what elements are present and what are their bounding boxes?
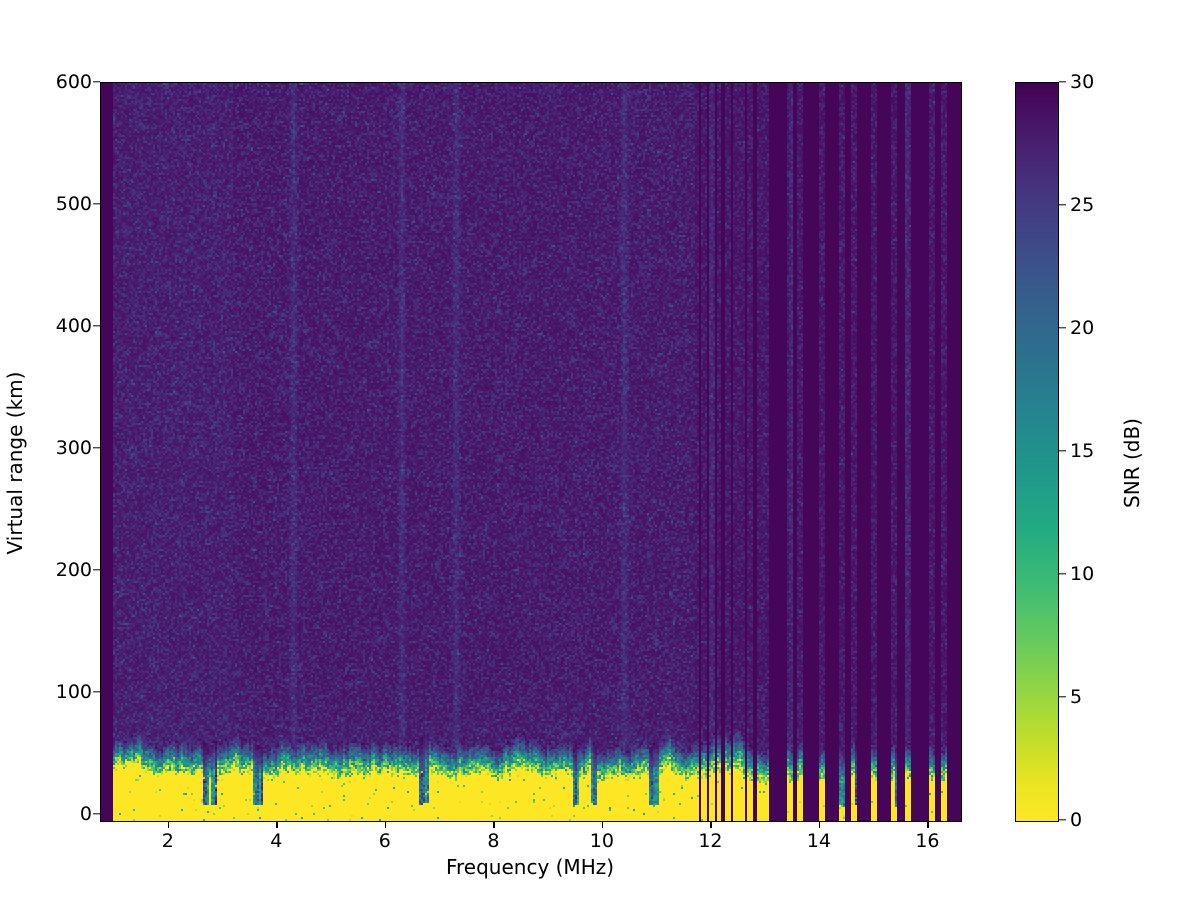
x-tick-label: 2 <box>128 830 208 852</box>
ionogram-heatmap <box>101 83 961 821</box>
colorbar-tick-mark <box>1059 819 1066 820</box>
y-tick-mark <box>93 203 100 204</box>
x-tick-mark <box>819 821 820 828</box>
colorbar-tick-mark <box>1059 573 1066 574</box>
colorbar-tick-label: 15 <box>1070 440 1094 462</box>
y-tick-mark <box>93 81 100 82</box>
y-tick-mark <box>93 691 100 692</box>
colorbar-tick-label: 5 <box>1070 686 1082 708</box>
colorbar-tick-mark <box>1059 696 1066 697</box>
x-tick-label: 10 <box>562 830 642 852</box>
colorbar-tick-mark <box>1059 327 1066 328</box>
colorbar-tick-label: 0 <box>1070 809 1082 831</box>
x-tick-mark <box>927 821 928 828</box>
x-tick-label: 6 <box>345 830 425 852</box>
colorbar-tick-mark <box>1059 81 1066 82</box>
colorbar-label: SNR (dB) <box>1120 303 1144 623</box>
y-axis-label: Virtual range (km) <box>3 233 27 693</box>
y-tick-mark <box>93 569 100 570</box>
colorbar-tick-label: 25 <box>1070 194 1094 216</box>
x-tick-label: 14 <box>779 830 859 852</box>
y-tick-label: 0 <box>8 803 92 825</box>
y-tick-mark <box>93 325 100 326</box>
colorbar-gradient <box>1016 83 1058 821</box>
x-tick-mark <box>385 821 386 828</box>
colorbar-tick-label: 30 <box>1070 71 1094 93</box>
colorbar-tick-label: 20 <box>1070 317 1094 339</box>
x-axis-label: Frequency (MHz) <box>100 855 960 879</box>
x-tick-label: 8 <box>453 830 533 852</box>
x-tick-label: 12 <box>670 830 750 852</box>
x-tick-mark <box>493 821 494 828</box>
y-tick-mark <box>93 813 100 814</box>
colorbar <box>1015 82 1059 822</box>
colorbar-tick-label: 10 <box>1070 563 1094 585</box>
colorbar-tick-mark <box>1059 204 1066 205</box>
x-tick-mark <box>276 821 277 828</box>
x-tick-label: 16 <box>887 830 967 852</box>
y-tick-label: 600 <box>8 71 92 93</box>
x-tick-mark <box>168 821 169 828</box>
plot-axes <box>100 82 962 822</box>
ionogram-figure: IRF Kiruna Ionosonde KI167 2025-12-06 02… <box>0 0 1200 900</box>
x-tick-label: 4 <box>236 830 316 852</box>
y-tick-mark <box>93 447 100 448</box>
x-tick-mark <box>710 821 711 828</box>
y-tick-label: 500 <box>8 193 92 215</box>
x-tick-mark <box>602 821 603 828</box>
colorbar-tick-mark <box>1059 450 1066 451</box>
